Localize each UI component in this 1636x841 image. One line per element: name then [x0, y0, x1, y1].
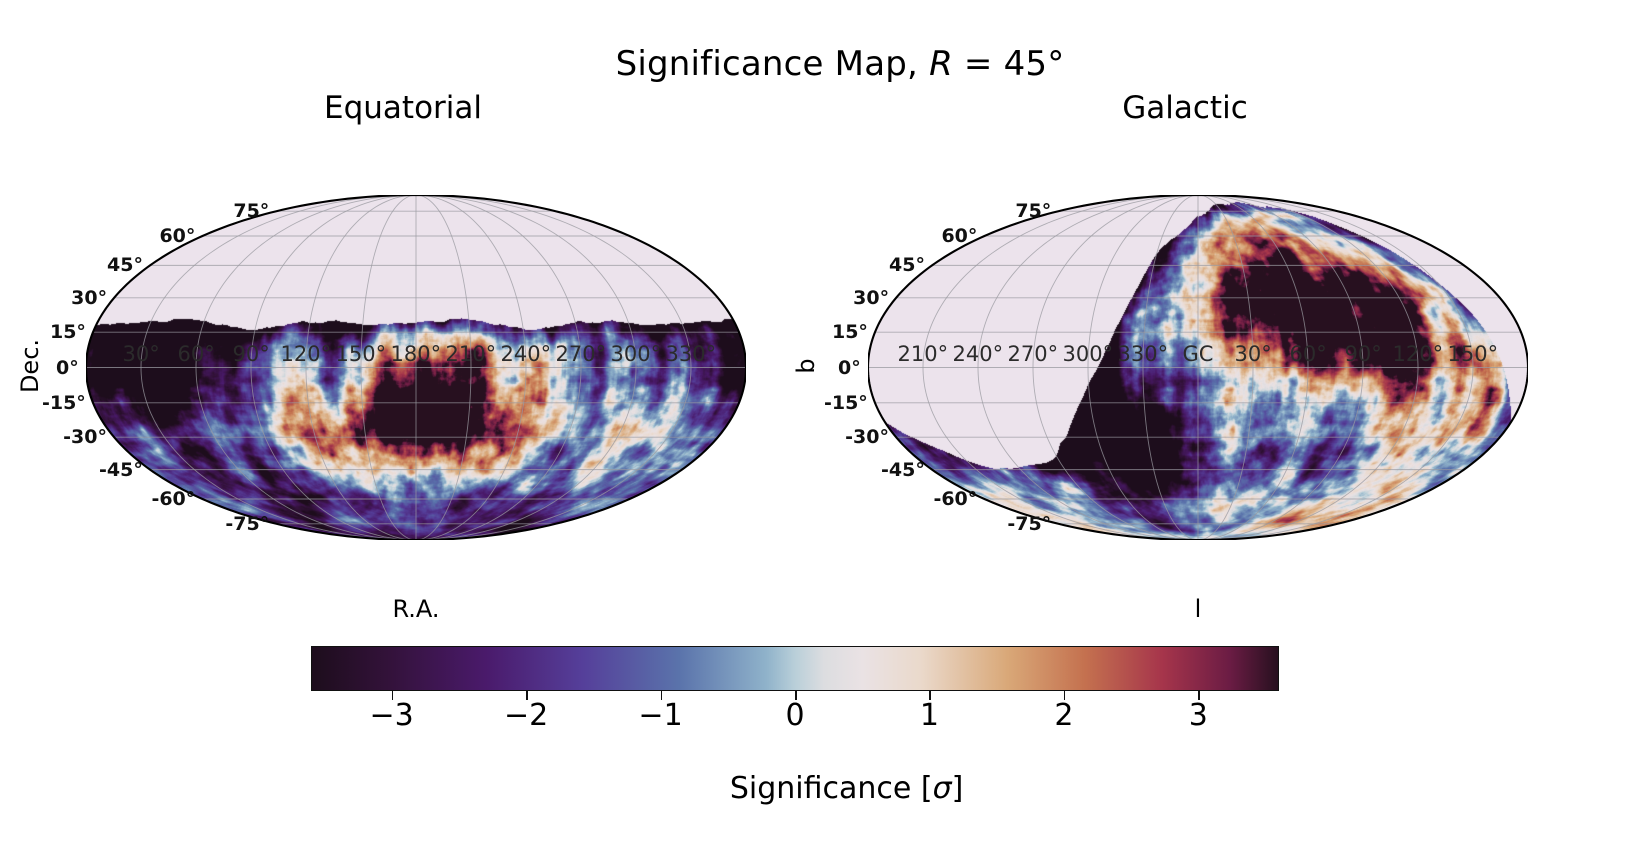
lon-tick-label: 240°	[953, 342, 1004, 366]
lon-tick-label: 270°	[556, 342, 607, 366]
colorbar-gradient	[311, 646, 1279, 691]
lon-tick-label: 90°	[233, 342, 270, 366]
lat-tick-label: 0°	[838, 357, 861, 379]
colorbar-tick-label: −3	[370, 698, 414, 733]
lon-tick-label: 30°	[123, 342, 160, 366]
figure-title-symbol: R	[929, 44, 953, 84]
lat-tick-label: -60°	[151, 488, 195, 510]
lon-tick-label: 300°	[1063, 342, 1114, 366]
lon-tick-label: 330°	[666, 342, 717, 366]
lat-tick-label: -60°	[933, 488, 977, 510]
lat-tick-label: 75°	[233, 200, 269, 222]
lon-tick-label: 300°	[611, 342, 662, 366]
panel-equatorial: Equatorial 75°60°45°30°15°0°-15°-30°-45°…	[8, 90, 798, 610]
lon-tick-label: 60°	[1290, 342, 1327, 366]
lat-tick-label: -45°	[881, 459, 925, 481]
lat-tick-label: 60°	[941, 225, 977, 247]
lat-tick-label: -15°	[824, 392, 868, 414]
colorbar-axis-label: Significance [σ]	[0, 736, 1636, 841]
lat-tick-label: 15°	[832, 321, 868, 343]
lon-tick-label: 60°	[178, 342, 215, 366]
figure-title-suffix: = 45°	[953, 44, 1065, 84]
lat-tick-label: 60°	[159, 225, 195, 247]
lon-tick-label: 120°	[1393, 342, 1444, 366]
lon-tick-label: 150°	[1448, 342, 1499, 366]
figure-root: Significance Map, R = 45° Equatorial 75°…	[0, 0, 1636, 801]
lat-tick-label: 30°	[853, 287, 889, 309]
colorbar-group: −3−2−10123 Significance [σ]	[0, 640, 1636, 801]
lon-tick-label: 240°	[501, 342, 552, 366]
lat-tick-label: 15°	[50, 321, 86, 343]
galactic-x-axis-label: l	[868, 595, 1528, 623]
panel-galactic-title: Galactic	[790, 90, 1580, 126]
equatorial-y-axis-label: Dec.	[16, 336, 44, 396]
lon-tick-label: 30°	[1235, 342, 1272, 366]
lat-tick-label: 45°	[889, 254, 925, 276]
lat-tick-label: -75°	[1007, 513, 1051, 535]
lat-tick-label: -30°	[63, 426, 107, 448]
lon-tick-label: 90°	[1345, 342, 1382, 366]
colorbar-tick-label: 2	[1054, 698, 1073, 733]
lon-tick-label: 180°	[391, 342, 442, 366]
lat-tick-label: 0°	[56, 357, 79, 379]
colorbar-tick-label: 3	[1189, 698, 1208, 733]
lon-tick-label: GC	[1183, 342, 1214, 366]
lon-tick-label: 120°	[281, 342, 332, 366]
lat-tick-label: -45°	[99, 459, 143, 481]
lat-tick-label: 75°	[1015, 200, 1051, 222]
lat-tick-label: 30°	[71, 287, 107, 309]
lat-tick-label: -15°	[42, 392, 86, 414]
colorbar-tick-label: −2	[504, 698, 548, 733]
figure-title-prefix: Significance Map,	[616, 44, 930, 84]
lat-tick-label: -75°	[225, 513, 269, 535]
panel-galactic: Galactic 75°60°45°30°15°0°-15°-30°-45°-6…	[790, 90, 1580, 610]
panel-equatorial-title: Equatorial	[8, 90, 798, 126]
colorbar-tick-label: 1	[920, 698, 939, 733]
lat-tick-label: -30°	[845, 426, 889, 448]
lon-tick-label: 150°	[336, 342, 387, 366]
equatorial-x-axis-label: R.A.	[86, 595, 746, 623]
lon-tick-label: 270°	[1008, 342, 1059, 366]
colorbar-tick-labels: −3−2−10123	[0, 698, 1636, 738]
colorbar-tick-label: 0	[785, 698, 804, 733]
lon-tick-label: 210°	[898, 342, 949, 366]
colorbar-tick-label: −1	[638, 698, 682, 733]
lon-tick-label: 330°	[1118, 342, 1169, 366]
galactic-y-axis-label: b	[792, 336, 820, 396]
lon-tick-label: 210°	[446, 342, 497, 366]
lat-tick-label: 45°	[107, 254, 143, 276]
